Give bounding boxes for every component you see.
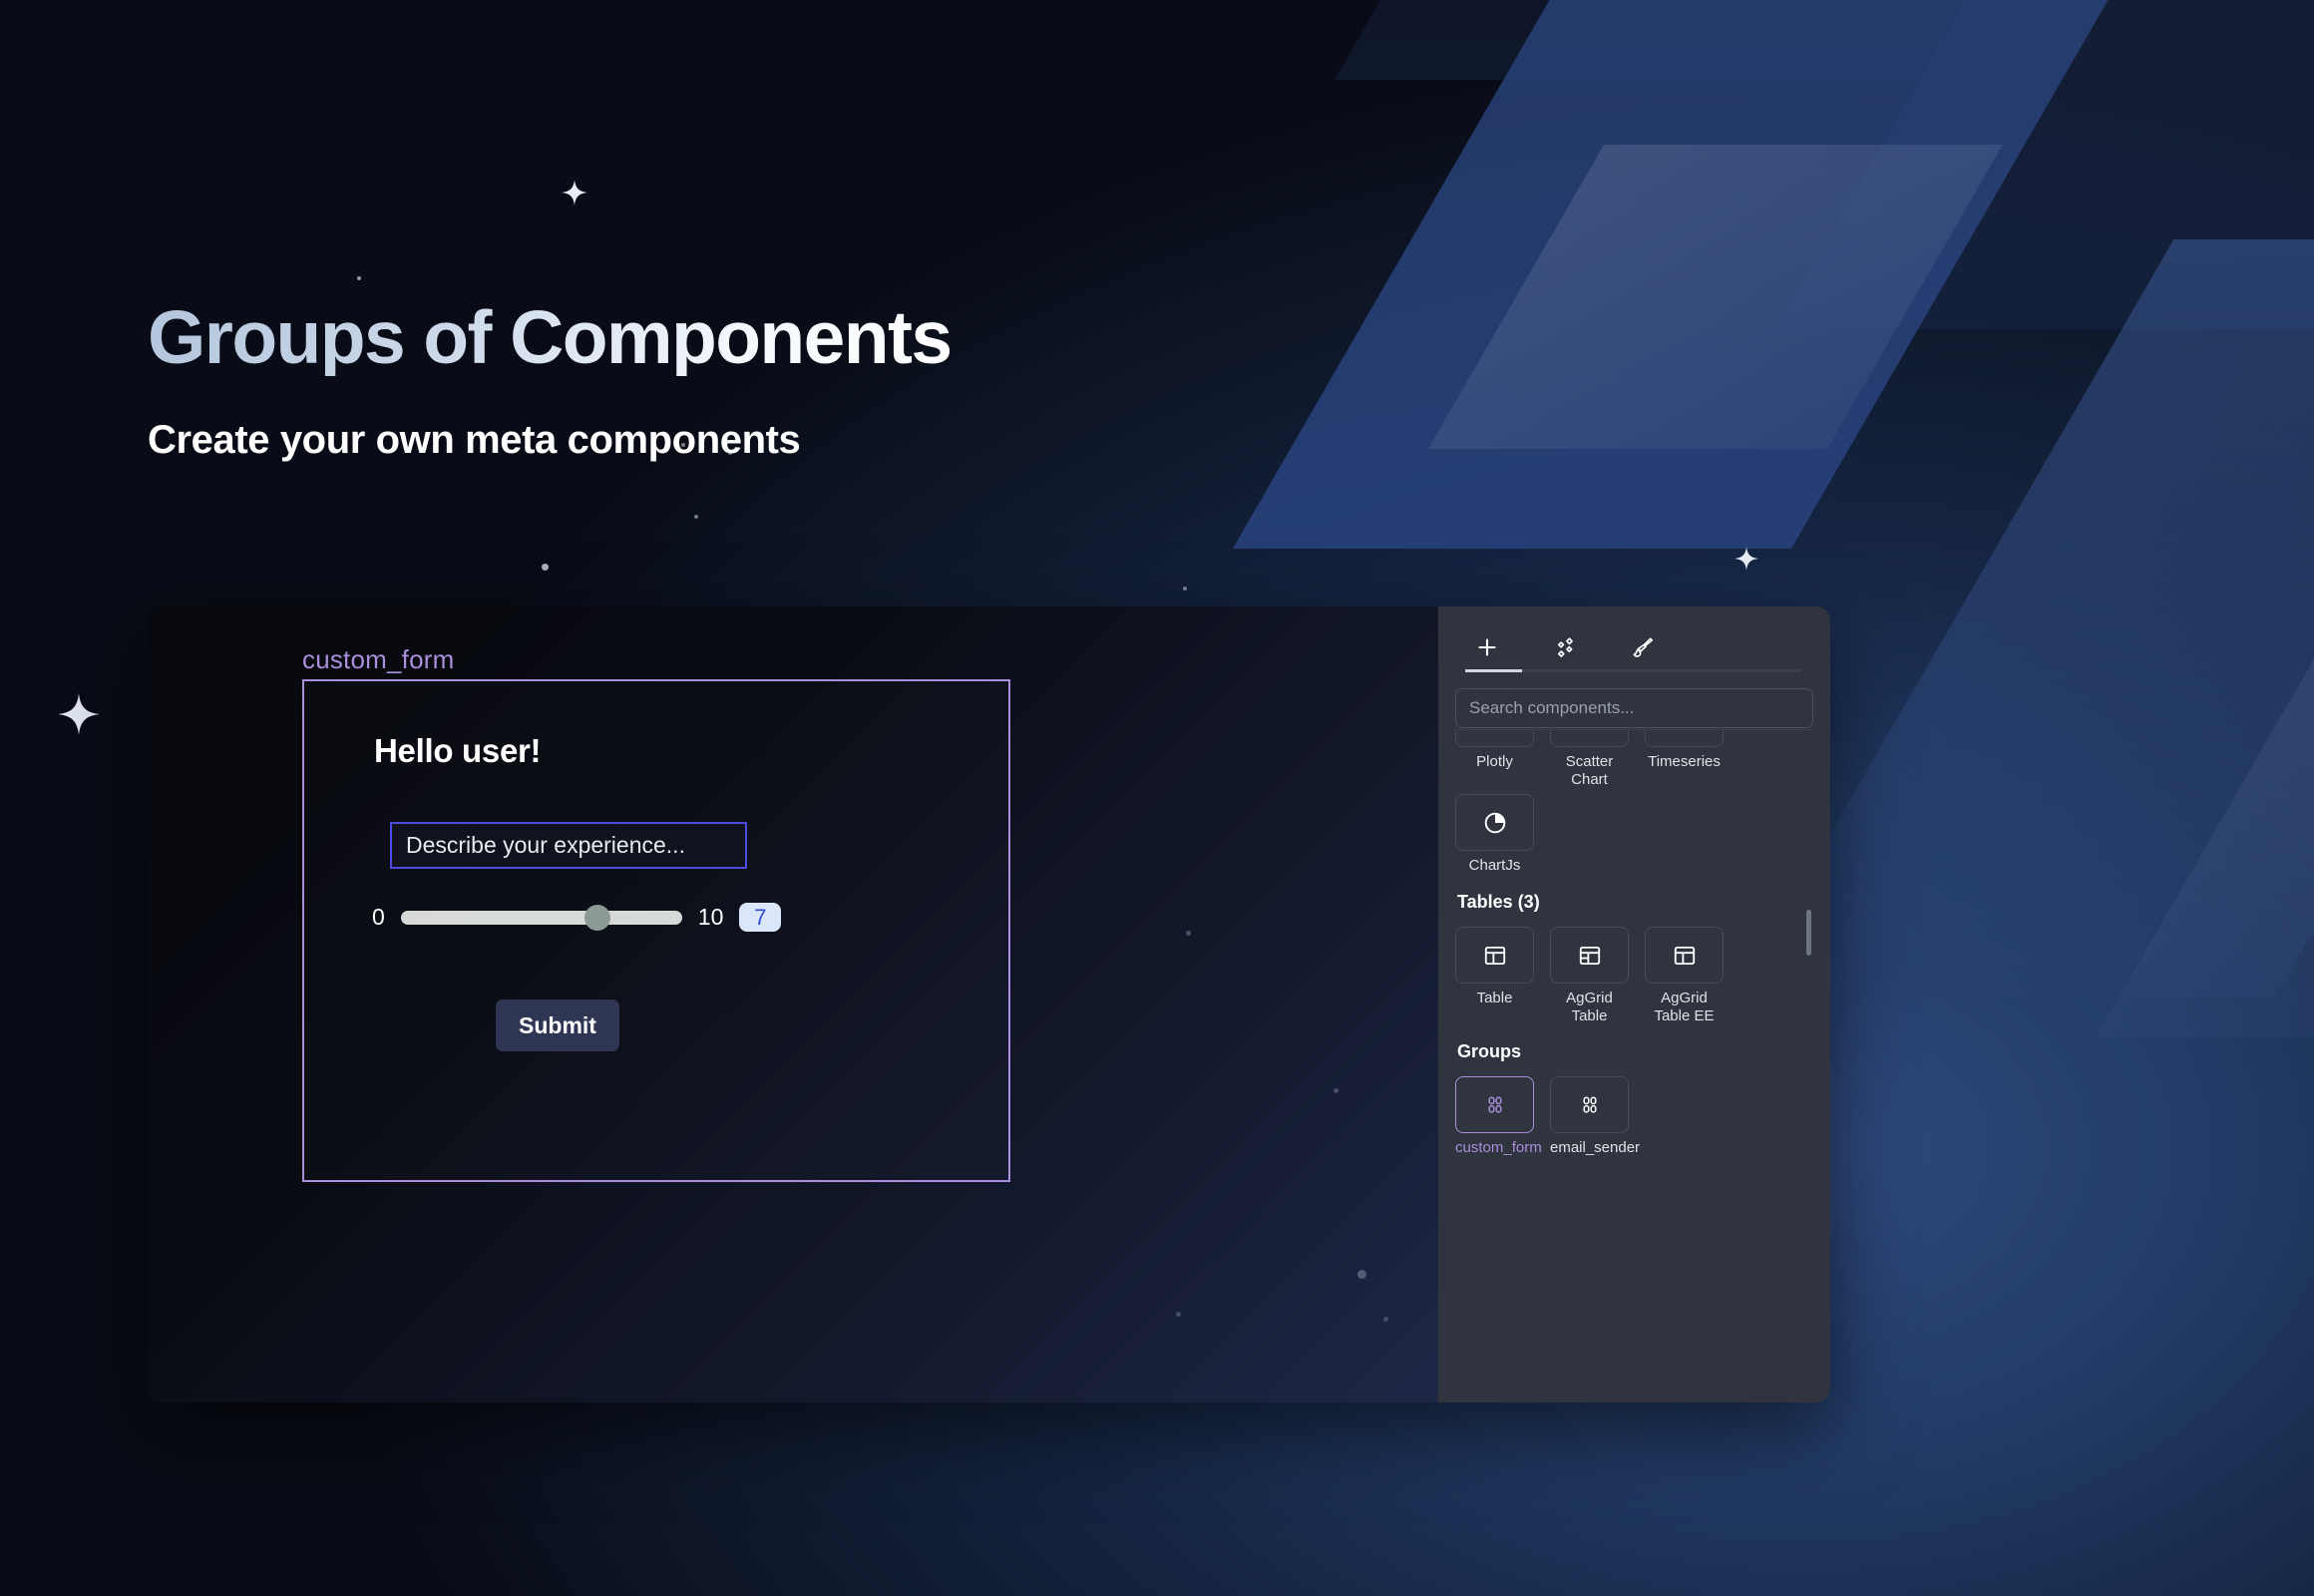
page-subtitle: Create your own meta components	[148, 418, 951, 463]
submit-button[interactable]: Submit	[496, 999, 619, 1051]
canvas-dot	[1334, 1088, 1339, 1093]
component-group-email-sender[interactable]: email_sender	[1550, 1076, 1629, 1157]
component-label: Table	[1455, 990, 1534, 1007]
rating-slider[interactable]	[401, 911, 682, 925]
section-header-groups: Groups	[1457, 1041, 1813, 1062]
experience-text-input[interactable]	[390, 822, 747, 869]
charts-grid: Plotly Scatter Chart	[1455, 729, 1813, 788]
slider-thumb[interactable]	[584, 905, 610, 931]
component-plotly[interactable]: Plotly	[1455, 729, 1534, 788]
group-icon	[1578, 1093, 1602, 1117]
section-header-tables: Tables (3)	[1457, 892, 1813, 913]
component-tile	[1455, 729, 1534, 747]
slider-max-label: 10	[698, 904, 724, 931]
paintbrush-icon	[1631, 635, 1655, 659]
slider-value-badge[interactable]: 7	[739, 903, 781, 932]
tab-add-component[interactable]	[1465, 628, 1509, 666]
component-aggrid-table[interactable]: AgGrid Table	[1550, 927, 1629, 1024]
panel-tab-bar	[1455, 606, 1813, 666]
slider-min-label: 0	[372, 904, 385, 931]
background-shape-light-face	[1428, 145, 2003, 449]
groups-grid: custom_form	[1455, 1070, 1813, 1157]
diamonds-icon	[1553, 635, 1577, 659]
star-dot	[542, 564, 549, 571]
group-widget-custom-form[interactable]: Hello user! 0 10 7 Submit	[302, 679, 1010, 1182]
component-label: Scatter Chart	[1550, 753, 1629, 788]
component-list-scroll[interactable]: Plotly Scatter Chart	[1455, 729, 1813, 1402]
component-tile	[1455, 927, 1534, 984]
component-group-custom-form[interactable]: custom_form	[1455, 1076, 1534, 1157]
group-heading: Hello user!	[374, 732, 541, 770]
tables-grid: Table AgGrid Table	[1455, 921, 1813, 1024]
canvas-dot	[1176, 1312, 1181, 1317]
scatter-dots-icon	[1577, 729, 1603, 732]
page-title: Groups of Components	[148, 299, 951, 376]
tab-active-indicator	[1465, 669, 1522, 672]
table-icon	[1577, 943, 1603, 969]
component-label: email_sender	[1550, 1139, 1629, 1157]
star-dot	[357, 276, 361, 280]
search-components-input[interactable]	[1455, 688, 1813, 728]
background-shape-far-right	[2096, 419, 2314, 1037]
component-label: custom_form	[1455, 1139, 1534, 1157]
star-dot	[1183, 587, 1187, 591]
component-tile	[1550, 729, 1629, 747]
group-widget-label: custom_form	[302, 644, 454, 675]
charts-grid-row2: ChartJs	[1455, 788, 1813, 875]
background-shape-main-blue	[1233, 0, 2298, 549]
component-label: AgGrid Table	[1550, 990, 1629, 1024]
table-icon	[1482, 943, 1508, 969]
component-tile	[1645, 729, 1724, 747]
canvas-dot	[1186, 931, 1191, 936]
plus-icon	[1475, 635, 1499, 659]
component-tile	[1455, 794, 1534, 851]
sparkle-icon	[58, 693, 100, 735]
component-scatter-chart[interactable]: Scatter Chart	[1550, 729, 1629, 788]
table-icon	[1672, 943, 1698, 969]
panel-scrollbar-thumb[interactable]	[1806, 910, 1811, 956]
component-tile	[1550, 927, 1629, 984]
sparkle-icon	[562, 180, 587, 205]
component-timeseries[interactable]: Timeseries	[1645, 729, 1724, 788]
background-shape-dark-top	[1335, 0, 2314, 80]
component-label: AgGrid Table EE	[1645, 990, 1724, 1024]
donut-chart-icon	[1482, 729, 1508, 732]
component-aggrid-table-ee[interactable]: AgGrid Table EE	[1645, 927, 1724, 1024]
scatter-dots-icon	[1672, 729, 1698, 732]
group-icon	[1483, 1093, 1507, 1117]
canvas-dot	[1357, 1270, 1366, 1279]
component-label: ChartJs	[1455, 857, 1534, 875]
background-shape-upper-right	[1776, 0, 2314, 329]
component-label: Plotly	[1455, 753, 1534, 771]
component-tile	[1550, 1076, 1629, 1133]
component-library-panel: Plotly Scatter Chart	[1438, 606, 1830, 1402]
app-window: custom_form Hello user! 0 10 7 Submit	[148, 606, 1830, 1402]
pie-chart-icon	[1482, 810, 1508, 836]
sparkle-icon	[1735, 547, 1758, 571]
tab-styles[interactable]	[1621, 628, 1665, 666]
canvas-dot	[1383, 1317, 1388, 1322]
tab-components[interactable]	[1543, 628, 1587, 666]
star-dot	[694, 515, 698, 519]
component-table[interactable]: Table	[1455, 927, 1534, 1024]
component-tile	[1645, 927, 1724, 984]
app-canvas[interactable]: custom_form Hello user! 0 10 7 Submit	[148, 606, 1438, 1402]
rating-slider-row: 0 10 7	[372, 903, 781, 932]
component-tile	[1455, 1076, 1534, 1133]
component-label: Timeseries	[1645, 753, 1724, 771]
hero-section: Groups of Components Create your own met…	[148, 299, 951, 463]
component-chartjs[interactable]: ChartJs	[1455, 794, 1534, 875]
